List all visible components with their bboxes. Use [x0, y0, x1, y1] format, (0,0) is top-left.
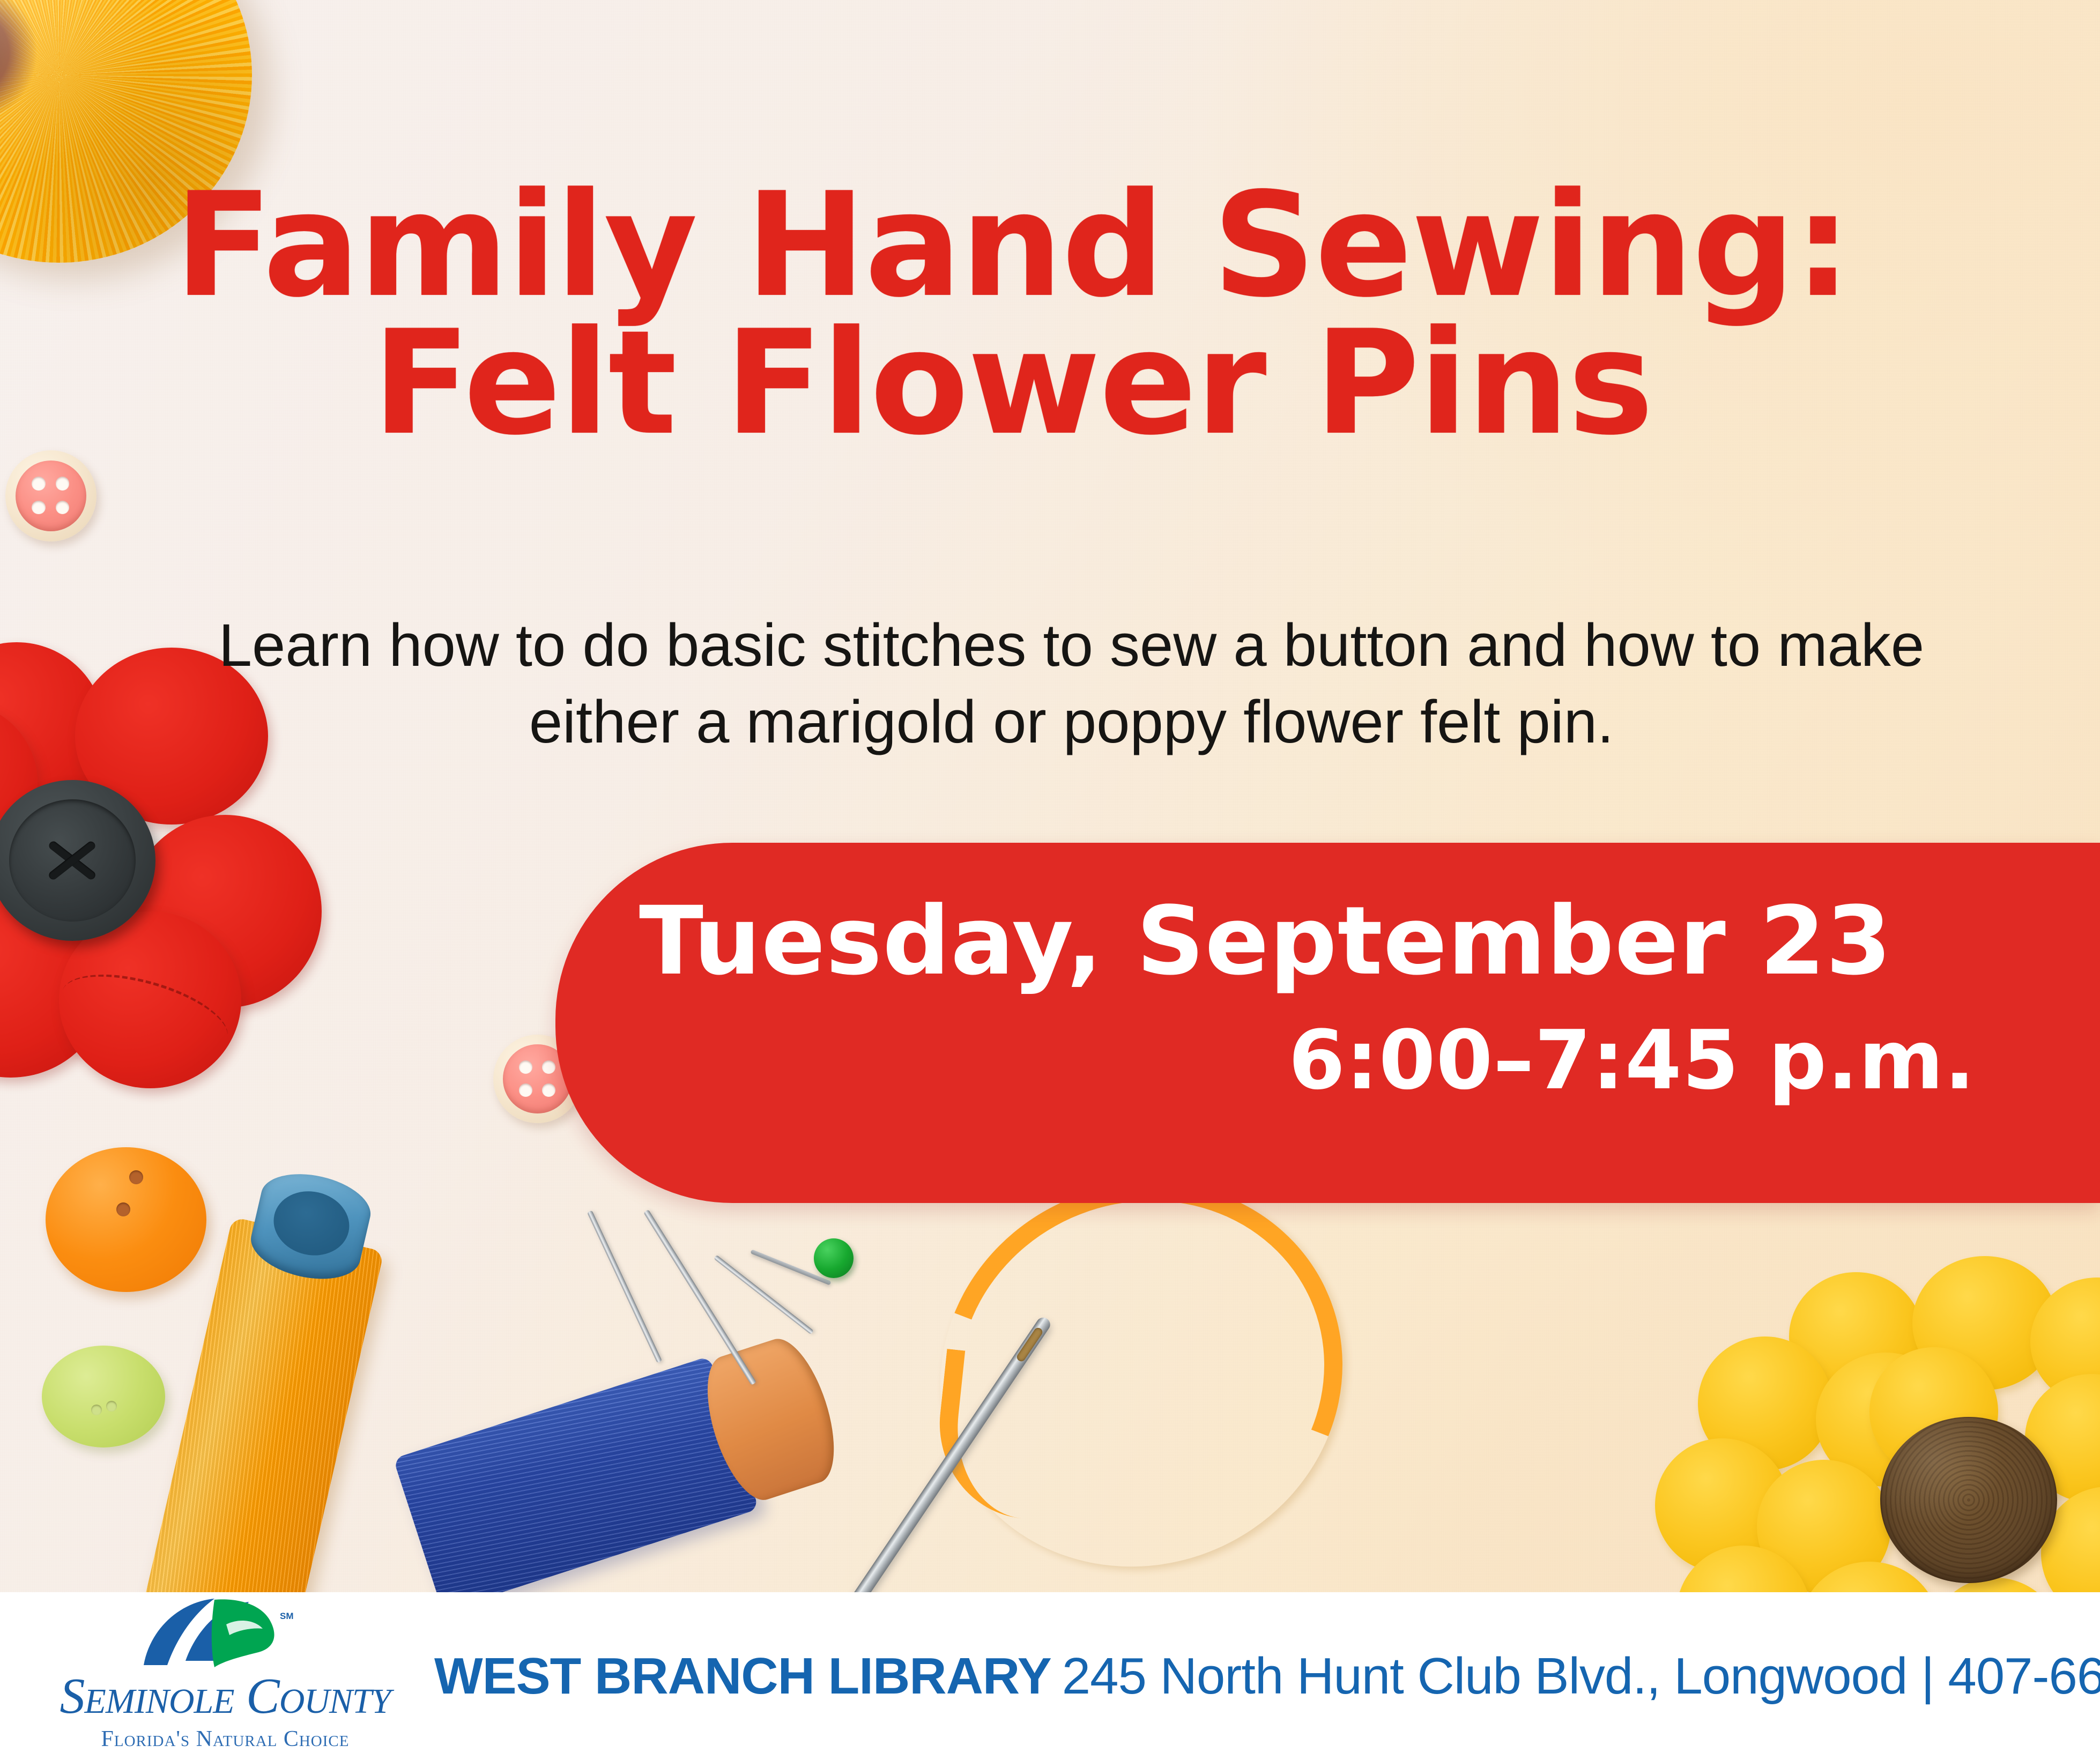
seminole-county-logo: SM Seminole County Florida's Natural Cho… — [38, 1599, 413, 1754]
date-time-banner: Tuesday, September 23 6:00–7:45 p.m. — [555, 843, 2100, 1203]
library-phone: 407-665-1670 — [1948, 1647, 2100, 1706]
event-date: Tuesday, September 23 — [555, 894, 1976, 989]
library-branch-name: WEST BRANCH LIBRARY — [434, 1647, 1051, 1706]
svg-text:SM: SM — [280, 1611, 294, 1621]
event-description: Learn how to do basic stitches to sew a … — [177, 607, 1966, 761]
event-time: 6:00–7:45 p.m. — [1288, 1020, 1976, 1101]
logo-swoosh-leaf-icon: SM — [134, 1596, 295, 1677]
page-title: Family Hand Sewing: Felt Flower Pins — [0, 177, 2025, 453]
footer-bar: SM Seminole County Florida's Natural Cho… — [0, 1592, 2100, 1760]
separator: | — [1921, 1647, 1934, 1706]
logo-tagline: Florida's Natural Choice — [38, 1726, 413, 1752]
green-head-pin-image — [814, 1238, 854, 1278]
orange-button-image — [46, 1147, 206, 1292]
event-flyer: Family Hand Sewing: Felt Flower Pins Lea… — [0, 0, 2100, 1760]
title-line-2: Felt Flower Pins — [0, 315, 2025, 452]
library-contact-line: WEST BRANCH LIBRARY 245 North Hunt Club … — [434, 1647, 2100, 1706]
library-address: 245 North Hunt Club Blvd., Longwood — [1062, 1647, 1908, 1706]
green-button-image — [42, 1346, 165, 1447]
logo-name: Seminole County — [38, 1667, 413, 1725]
pink-button-image — [5, 450, 97, 541]
